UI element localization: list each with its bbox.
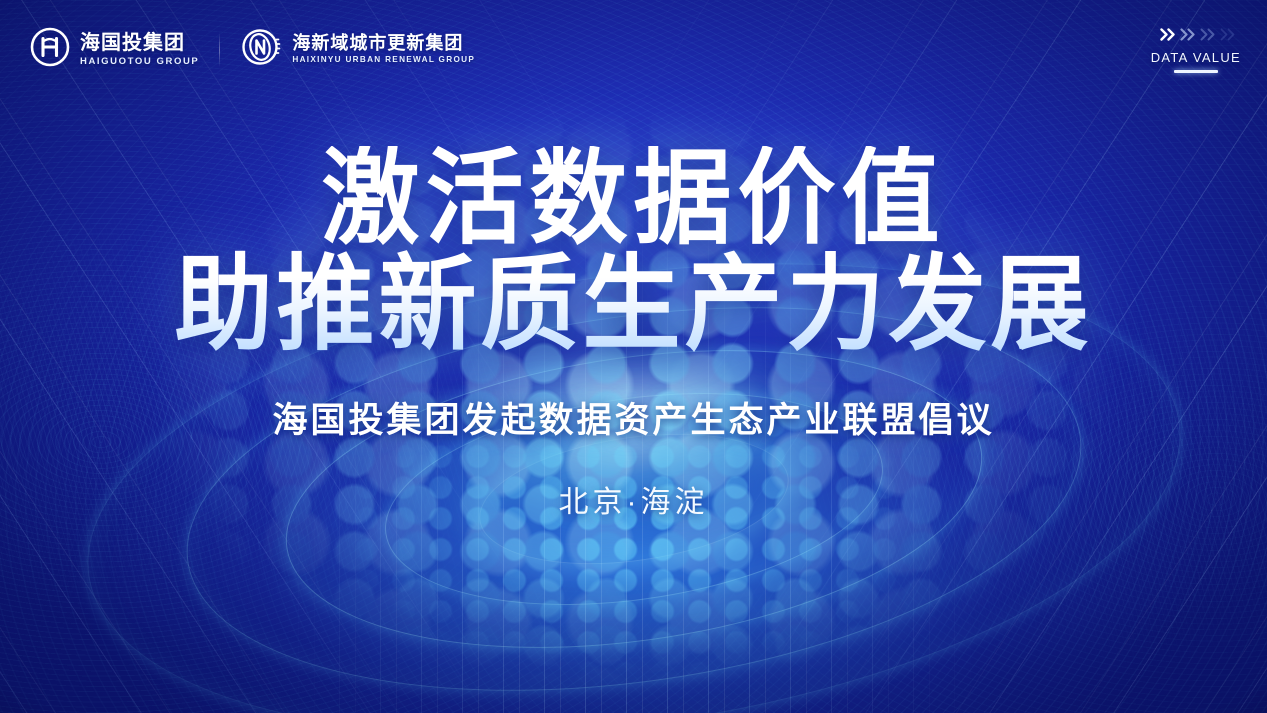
logo-haixinyu-name-en: HAIXINYU URBAN RENEWAL GROUP bbox=[292, 56, 475, 64]
circle-h-monogram-icon bbox=[30, 27, 70, 72]
data-value-underline bbox=[1174, 70, 1218, 73]
page-title: 激活数据价值 助推新质生产力发展 bbox=[174, 146, 1092, 358]
logo-haiguotou-name-en: HAIGUOTOU GROUP bbox=[80, 57, 199, 67]
title-line-1: 激活数据价值 bbox=[174, 146, 1092, 252]
title-line-2: 助推新质生产力发展 bbox=[174, 252, 1092, 358]
logo-haixinyu-text: 海新域城市更新集团 HAIXINYU URBAN RENEWAL GROUP bbox=[292, 34, 475, 64]
logo-haiguotou-group[interactable]: 海国投集团 HAIGUOTOU GROUP bbox=[30, 27, 199, 72]
data-value-label: DATA VALUE bbox=[1151, 50, 1241, 65]
logo-haiguotou-text: 海国投集团 HAIGUOTOU GROUP bbox=[80, 33, 199, 67]
logo-divider bbox=[219, 33, 220, 67]
chevron-row bbox=[1151, 28, 1241, 46]
logo-haixinyu-name-cn: 海新域城市更新集团 bbox=[292, 34, 475, 52]
page-subtitle: 海国投集团发起数据资产生态产业联盟倡议 bbox=[272, 392, 994, 443]
logo-haixinyu-urban-renewal-group[interactable]: 海新域城市更新集团 HAIXINYU URBAN RENEWAL GROUP bbox=[240, 26, 475, 73]
double-chevron-right-icon bbox=[1180, 28, 1197, 46]
double-chevron-right-icon bbox=[1160, 28, 1177, 46]
logo-haiguotou-name-cn: 海国投集团 bbox=[80, 33, 199, 53]
poster-content: 激活数据价值 助推新质生产力发展 海国投集团发起数据资产生态产业联盟倡议 北京·… bbox=[0, 0, 1267, 713]
data-value-badge: DATA VALUE bbox=[1151, 28, 1241, 73]
poster-canvas: 海国投集团 HAIGUOTOU GROUP bbox=[0, 0, 1267, 713]
poster-header: 海国投集团 HAIGUOTOU GROUP bbox=[0, 0, 1267, 100]
event-location: 北京·海淀 bbox=[559, 477, 709, 521]
circle-n-monogram-icon bbox=[240, 26, 282, 73]
double-chevron-right-icon bbox=[1220, 28, 1237, 46]
logo-lockup: 海国投集团 HAIGUOTOU GROUP bbox=[30, 26, 475, 73]
double-chevron-right-icon bbox=[1200, 28, 1217, 46]
